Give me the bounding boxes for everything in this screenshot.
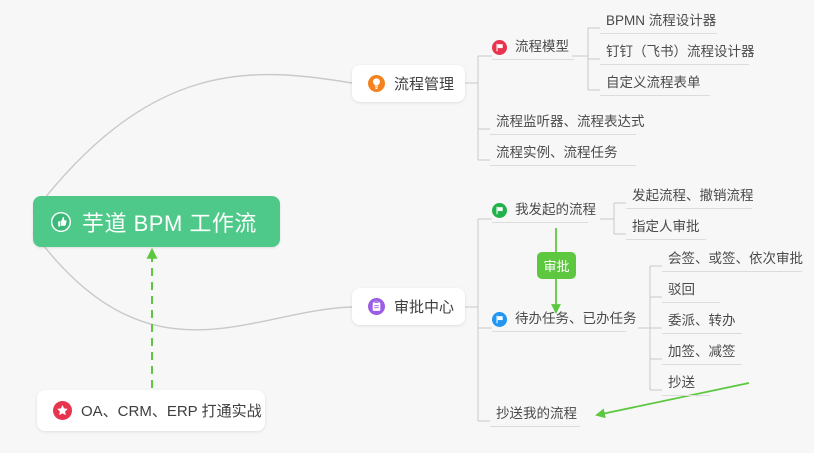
node-flow-listener[interactable]: 流程监听器、流程表达式 [490,113,636,135]
node-todo-done-tasks-label: 待办任务、已办任务 [515,310,637,327]
clipboard-circle-icon [368,298,385,315]
flag-circle-icon [492,203,507,218]
node-delegate-transfer[interactable]: 委派、转办 [662,312,742,334]
approve-badge[interactable]: 审批 [537,252,576,279]
mindmap-canvas: 芋道 BPM 工作流 流程管理 审批中心 [0,0,814,453]
thumbs-up-circle-icon [50,211,72,233]
node-multi-sign-label: 会签、或签、依次审批 [668,250,803,267]
node-flow-management-label: 流程管理 [394,73,454,94]
node-cc[interactable]: 抄送 [662,374,710,396]
node-todo-done-tasks[interactable]: 待办任务、已办任务 [492,310,626,332]
approve-badge-label: 审批 [543,256,569,275]
node-start-cancel-label: 发起流程、撤销流程 [632,187,754,204]
node-multi-sign[interactable]: 会签、或签、依次审批 [662,250,802,272]
lightbulb-circle-icon [368,75,385,92]
node-approval-center-label: 审批中心 [394,296,454,317]
node-integration-note[interactable]: OA、CRM、ERP 打通实战 [37,390,265,431]
root-node[interactable]: 芋道 BPM 工作流 [33,196,280,247]
node-cc-label: 抄送 [668,374,695,391]
node-assignee-approve-label: 指定人审批 [632,218,700,235]
node-approval-center[interactable]: 审批中心 [352,288,465,325]
root-label: 芋道 BPM 工作流 [82,206,257,238]
node-flow-management[interactable]: 流程管理 [352,65,465,102]
star-circle-icon [53,401,72,420]
flag-circle-icon [492,312,507,327]
flag-circle-icon [492,40,507,55]
node-bpmn-designer[interactable]: BPMN 流程设计器 [600,12,717,34]
node-dingtalk-feishu-designer[interactable]: 钉钉（飞书）流程设计器 [600,43,749,65]
node-delegate-transfer-label: 委派、转办 [668,312,736,329]
node-reject-label: 驳回 [668,281,695,298]
node-add-remove-sign[interactable]: 加签、减签 [662,343,742,365]
node-my-initiated[interactable]: 我发起的流程 [492,201,588,223]
node-reject[interactable]: 驳回 [662,281,720,303]
node-assignee-approve[interactable]: 指定人审批 [626,218,706,240]
edge-root-to-flow-management [33,75,352,213]
node-cc-to-me[interactable]: 抄送我的流程 [490,405,580,427]
node-flow-instance[interactable]: 流程实例、流程任务 [490,144,636,166]
node-integration-note-label: OA、CRM、ERP 打通实战 [81,400,262,421]
node-add-remove-sign-label: 加签、减签 [668,343,736,360]
node-my-initiated-label: 我发起的流程 [515,201,596,218]
node-bpmn-designer-label: BPMN 流程设计器 [606,12,716,29]
node-flow-instance-label: 流程实例、流程任务 [496,144,618,161]
node-dingtalk-feishu-designer-label: 钉钉（飞书）流程设计器 [606,43,755,60]
node-flow-model[interactable]: 流程模型 [492,38,574,60]
node-custom-form-label: 自定义流程表单 [606,74,701,91]
node-flow-model-label: 流程模型 [515,38,569,55]
node-custom-form[interactable]: 自定义流程表单 [600,74,710,96]
node-cc-to-me-label: 抄送我的流程 [496,405,577,422]
node-flow-listener-label: 流程监听器、流程表达式 [496,113,645,130]
node-start-cancel[interactable]: 发起流程、撤销流程 [626,187,752,209]
